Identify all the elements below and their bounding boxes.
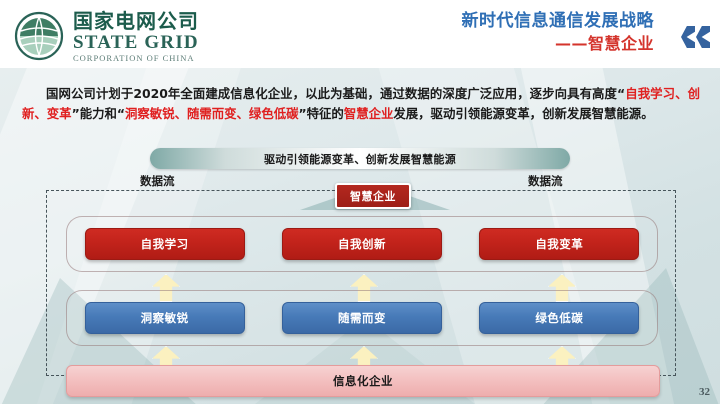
paragraph-segment-0: 国网公司计划于2020年全面建成信息化企业，以此为基础，通过数据的深度广泛应用，… xyxy=(46,86,625,101)
capability-item-1-label: 自我创新 xyxy=(338,236,386,252)
state-grid-emblem-icon xyxy=(14,11,64,61)
chevron-left-icon-1 xyxy=(681,26,695,48)
characteristic-row: 洞察敏锐 随需而变 绿色低碳 xyxy=(66,290,658,346)
header-title-primary: 新时代信息通信发展战略 xyxy=(462,12,655,32)
capability-row: 自我学习 自我创新 自我变革 xyxy=(66,216,658,272)
slide-header: 国家电网公司 STATE GRID CORPORATION OF CHINA 新… xyxy=(0,0,720,69)
header-title-block: 新时代信息通信发展战略 ——智慧企业 xyxy=(462,12,655,53)
foundation-bar-label: 信息化企业 xyxy=(333,373,393,389)
diagram-top-banner: 驱动引领能源变革、创新发展智慧能源 xyxy=(150,148,570,169)
double-chevron-icon xyxy=(681,26,710,48)
capability-item-2-label: 自我变革 xyxy=(535,236,583,252)
capability-item-1[interactable]: 自我创新 xyxy=(282,228,442,260)
paragraph-segment-3: 洞察敏锐、随需而变、绿色低碳 xyxy=(125,106,298,121)
characteristic-item-0[interactable]: 洞察敏锐 xyxy=(85,302,245,334)
characteristic-item-0-label: 洞察敏锐 xyxy=(141,310,189,326)
diagram-top-banner-label: 驱动引领能源变革、创新发展智慧能源 xyxy=(264,151,456,167)
data-flow-label-left: 数据流 xyxy=(140,173,175,189)
logo-chinese-name: 国家电网公司 xyxy=(73,11,199,31)
capability-item-0[interactable]: 自我学习 xyxy=(85,228,245,260)
paragraph-segment-2: ”能力和“ xyxy=(72,106,125,121)
logo-english-name: STATE GRID xyxy=(73,33,199,52)
page-number: 32 xyxy=(699,386,710,398)
chevron-left-icon-2 xyxy=(696,26,710,48)
header-title-secondary: ——智慧企业 xyxy=(462,35,655,53)
intro-paragraph: 国网公司计划于2020年全面建成信息化企业，以此为基础，通过数据的深度广泛应用，… xyxy=(22,84,700,124)
capability-item-0-label: 自我学习 xyxy=(141,236,189,252)
smart-enterprise-badge-label: 智慧企业 xyxy=(350,188,396,204)
characteristic-item-1-label: 随需而变 xyxy=(338,310,386,326)
state-grid-logo: 国家电网公司 STATE GRID CORPORATION OF CHINA xyxy=(14,9,199,63)
logo-english-subtitle: CORPORATION OF CHINA xyxy=(73,54,199,63)
slide-root: 国家电网公司 STATE GRID CORPORATION OF CHINA 新… xyxy=(0,0,720,404)
characteristic-item-2-label: 绿色低碳 xyxy=(535,310,583,326)
paragraph-segment-5: 智慧企业 xyxy=(344,106,394,121)
characteristic-item-2[interactable]: 绿色低碳 xyxy=(479,302,639,334)
paragraph-segment-4: ”特征的 xyxy=(299,106,344,121)
capability-item-2[interactable]: 自我变革 xyxy=(479,228,639,260)
data-flow-label-right: 数据流 xyxy=(528,173,563,189)
characteristic-item-1[interactable]: 随需而变 xyxy=(282,302,442,334)
foundation-bar[interactable]: 信息化企业 xyxy=(66,365,660,397)
paragraph-segment-6: 发展，驱动引领能源变革，创新发展智慧能源。 xyxy=(393,106,653,121)
slide-body: 国网公司计划于2020年全面建成信息化企业，以此为基础，通过数据的深度广泛应用，… xyxy=(0,68,720,404)
state-grid-wordmark: 国家电网公司 STATE GRID CORPORATION OF CHINA xyxy=(73,9,199,63)
smart-enterprise-badge: 智慧企业 xyxy=(335,183,411,209)
